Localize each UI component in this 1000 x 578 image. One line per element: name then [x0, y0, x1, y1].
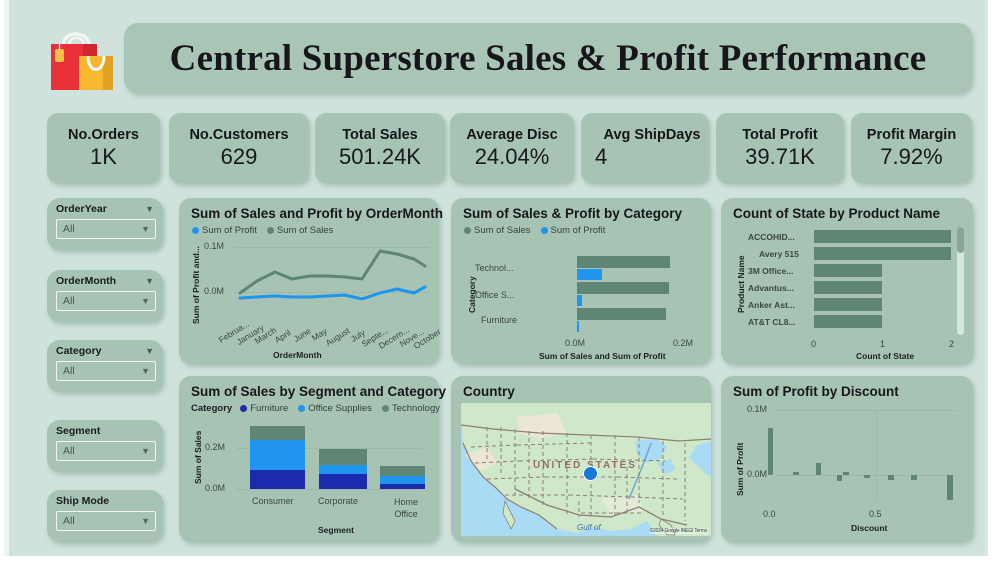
x-tick-label: 0: [811, 339, 816, 349]
legend-label: Sum of Profit: [551, 225, 606, 236]
bar-corporate-office-supplies[interactable]: [319, 465, 367, 474]
chart-sales-profit-by-category[interactable]: Sum of Sales & Profit by Category Sum of…: [451, 198, 711, 364]
bar-consumer-technology[interactable]: [250, 426, 305, 440]
slicer-header: Segment ▼: [56, 425, 156, 437]
bar-discount-2[interactable]: [816, 463, 821, 475]
y-axis-title: Sum of Sales: [193, 431, 203, 484]
kpi-value: 24.04%: [475, 145, 550, 168]
legend-label: Furniture: [250, 403, 288, 414]
bar-profit-technology[interactable]: [577, 269, 602, 280]
legend-item-sum-of-sales[interactable]: Sum of Sales: [464, 225, 531, 236]
legend-item-office-supplies[interactable]: Office Supplies: [298, 403, 372, 414]
bar-consumer-furniture[interactable]: [250, 470, 305, 489]
category-label: Office S...: [475, 290, 514, 300]
category-label: Avery 515: [759, 249, 799, 259]
chevron-down-icon[interactable]: ▼: [145, 205, 154, 214]
map-pin-icon[interactable]: [583, 466, 598, 481]
gridline-vertical: [876, 410, 877, 502]
bar-home-office-office-supplies[interactable]: [380, 476, 425, 484]
bar-product-1[interactable]: [814, 247, 951, 260]
slicer-dropdown[interactable]: All ▼: [56, 441, 156, 461]
legend-label: Technology: [392, 403, 440, 414]
legend-label: Office Supplies: [308, 403, 372, 414]
bar-discount-1[interactable]: [793, 472, 799, 475]
slicer-label: OrderMonth: [56, 275, 116, 287]
map-attribution[interactable]: ©2024 Google INEGI Terms: [649, 528, 708, 534]
bar-sales-technology[interactable]: [577, 256, 670, 268]
chart-scrollbar-thumb[interactable]: [957, 227, 964, 253]
legend-swatch-icon: [464, 227, 471, 234]
bar-product-3[interactable]: [814, 281, 882, 294]
bar-product-4[interactable]: [814, 298, 882, 311]
slicer-dropdown[interactable]: All ▼: [56, 219, 156, 239]
category-label: Furniture: [481, 315, 517, 325]
kpi-card-average-disc[interactable]: Average Disc 24.04%: [450, 113, 574, 183]
chart-legend[interactable]: Sum of Sales Sum of Profit: [464, 225, 611, 236]
slicer-header: Ship Mode ▼: [56, 495, 156, 507]
bar-product-0[interactable]: [814, 230, 951, 243]
slicer-value: All: [63, 515, 75, 527]
chart-title: Sum of Profit by Discount: [733, 384, 899, 399]
bar-corporate-technology[interactable]: [319, 449, 367, 465]
bar-discount-3[interactable]: [837, 475, 842, 481]
slicer-value: All: [63, 365, 75, 377]
chevron-down-icon[interactable]: ▼: [141, 516, 150, 526]
bar-discount-8[interactable]: [947, 475, 953, 500]
x-tick-label: 1: [880, 339, 885, 349]
kpi-value: 4: [595, 145, 607, 168]
x-tick-label: 2: [949, 339, 954, 349]
x-tick-label: Corporate: [318, 496, 358, 506]
bar-discount-6[interactable]: [888, 475, 894, 480]
kpi-card-avg-shipdays[interactable]: Avg ShipDays 4: [581, 113, 709, 183]
y-tick-label: 0.0M: [205, 483, 225, 493]
legend-item-furniture[interactable]: Furniture: [240, 403, 288, 414]
x-axis-title: Discount: [851, 523, 887, 533]
slicer-dropdown[interactable]: All ▼: [56, 291, 156, 311]
chart-sales-by-segment-and-category[interactable]: Sum of Sales by Segment and Category Cat…: [179, 376, 439, 542]
slicer-label: OrderYear: [56, 203, 107, 215]
category-label: 3M Office...: [748, 266, 793, 276]
legend-swatch-icon: [240, 405, 247, 412]
legend-label: Sum of Profit: [202, 225, 257, 236]
x-axis-title: OrderMonth: [273, 350, 322, 360]
bar-sales-office-supplies[interactable]: [577, 282, 669, 294]
slicer-value: All: [63, 223, 75, 235]
chart-title: Sum of Sales and Profit by OrderMonth: [191, 206, 443, 221]
bar-home-office-furniture[interactable]: [380, 484, 425, 489]
kpi-value: 501.24K: [339, 145, 421, 168]
bar-home-office-technology[interactable]: [380, 466, 425, 476]
bar-profit-office-supplies[interactable]: [577, 295, 582, 306]
slicer-value: All: [63, 445, 75, 457]
category-label: Technol...: [475, 263, 514, 273]
map-title: Country: [463, 384, 515, 399]
bar-consumer-office-supplies[interactable]: [250, 440, 305, 470]
bar-discount-0[interactable]: [768, 428, 773, 475]
slicer-category[interactable]: Category ▼ All ▼: [47, 340, 163, 392]
legend-swatch-icon: [382, 405, 389, 412]
y-axis-title: Sum of Profit: [735, 443, 745, 496]
chart-profit-by-discount[interactable]: Sum of Profit by Discount Sum of Profit …: [721, 376, 973, 542]
x-tick-label: 0.2M: [673, 338, 693, 348]
legend-swatch-icon: [298, 405, 305, 412]
legend-item-sum-of-profit[interactable]: Sum of Profit: [192, 225, 257, 236]
x-tick-label: HomeOffice: [384, 496, 428, 520]
x-tick-label: Consumer: [252, 496, 294, 506]
kpi-value: 629: [221, 145, 258, 168]
slicer-label: Category: [56, 345, 102, 357]
slicer-label: Segment: [56, 425, 100, 437]
legend-swatch-icon: [192, 227, 199, 234]
slicer-header: OrderMonth ▼: [56, 275, 156, 287]
kpi-label: Total Sales: [342, 128, 417, 143]
x-tick-label: 0.5: [869, 509, 882, 519]
legend-item-technology[interactable]: Technology: [382, 403, 440, 414]
chart-legend[interactable]: Category Furniture Office Supplies Techn…: [191, 403, 446, 414]
chart-sales-profit-by-ordermonth[interactable]: Sum of Sales and Profit by OrderMonth Su…: [179, 198, 439, 364]
x-axis-title: Segment: [318, 525, 354, 535]
kpi-label: Avg ShipDays: [604, 128, 701, 143]
gridline: [237, 489, 422, 490]
kpi-label: Profit Margin: [867, 128, 956, 143]
kpi-label: No.Orders: [68, 128, 139, 143]
kpi-card-no-orders[interactable]: No.Orders 1K: [47, 113, 160, 183]
chevron-down-icon[interactable]: ▼: [145, 277, 154, 286]
bar-sales-furniture[interactable]: [577, 308, 666, 320]
chart-legend[interactable]: Sum of Profit Sum of Sales: [192, 225, 339, 236]
kpi-card-total-profit[interactable]: Total Profit 39.71K: [716, 113, 844, 183]
bar-corporate-furniture[interactable]: [319, 474, 367, 489]
report-page: Central Superstore Sales & Profit Perfor…: [4, 0, 988, 556]
legend-title: Category: [191, 403, 232, 414]
slicer-ship-mode[interactable]: Ship Mode ▼ All ▼: [47, 490, 163, 542]
x-tick-label: 0.0: [763, 509, 776, 519]
legend-swatch-icon: [267, 227, 274, 234]
x-tick-label: August: [324, 325, 352, 348]
y-tick-label: 0.2M: [205, 442, 225, 452]
slicer-value: All: [63, 295, 75, 307]
x-tick-label: 0.0M: [565, 338, 585, 348]
y-axis-title: Product Name: [736, 255, 746, 313]
kpi-value: 7.92%: [880, 145, 942, 168]
y-tick-label: 0.0M: [747, 469, 767, 479]
bar-discount-5[interactable]: [864, 475, 870, 478]
slicer-ordermonth[interactable]: OrderMonth ▼ All ▼: [47, 270, 163, 322]
slicer-dropdown[interactable]: All ▼: [56, 361, 156, 381]
line-chart-plot: [234, 238, 429, 300]
dashboard-canvas: Central Superstore Sales & Profit Perfor…: [0, 0, 1000, 578]
bar-product-5[interactable]: [814, 315, 882, 328]
shopping-bags-icon: [39, 18, 125, 98]
y-axis-title: Sum of Profit and...: [191, 246, 201, 324]
slicer-segment[interactable]: Segment ▼ All ▼: [47, 420, 163, 472]
chevron-down-icon[interactable]: ▼: [141, 446, 150, 456]
chevron-down-icon[interactable]: ▼: [141, 224, 150, 234]
kpi-card-total-sales[interactable]: Total Sales 501.24K: [315, 113, 445, 183]
kpi-label: Total Profit: [742, 128, 817, 143]
bar-profit-furniture[interactable]: [577, 321, 579, 332]
slicer-dropdown[interactable]: All ▼: [56, 511, 156, 531]
kpi-label: Average Disc: [466, 128, 557, 143]
y-tick-label: 0.0M: [204, 286, 224, 296]
category-label: AT&T CL8...: [748, 317, 796, 327]
map-viewport[interactable]: UNITED STATES Gulf of ©2024 Google INEGI…: [461, 403, 711, 536]
dashboard-title-card: Central Superstore Sales & Profit Perfor…: [124, 23, 972, 93]
map-country[interactable]: Country: [451, 376, 711, 542]
legend-item-sum-of-profit[interactable]: Sum of Profit: [541, 225, 606, 236]
slicer-header: Category ▼: [56, 345, 156, 357]
legend-item-sum-of-sales[interactable]: Sum of Sales: [267, 225, 334, 236]
category-label: Advantus...: [748, 283, 794, 293]
x-axis-title: Sum of Sales and Sum of Profit: [539, 351, 666, 361]
slicer-label: Ship Mode: [56, 495, 109, 507]
chart-title: Sum of Sales & Profit by Category: [463, 206, 682, 221]
slicer-orderyear[interactable]: OrderYear ▼ All ▼: [47, 198, 163, 250]
gridline: [778, 410, 956, 411]
bar-product-2[interactable]: [814, 264, 882, 277]
slicer-header: OrderYear ▼: [56, 203, 156, 215]
chevron-down-icon[interactable]: ▼: [141, 296, 150, 306]
category-label: ACCOHID...: [748, 232, 795, 242]
kpi-card-no-customers[interactable]: No.Customers 629: [169, 113, 309, 183]
x-axis-title: Count of State: [856, 351, 914, 361]
page-title: Central Superstore Sales & Profit Perfor…: [170, 37, 927, 80]
legend-label: Sum of Sales: [474, 225, 531, 236]
category-label: Anker Ast...: [748, 300, 795, 310]
kpi-card-profit-margin[interactable]: Profit Margin 7.92%: [851, 113, 972, 183]
chevron-down-icon[interactable]: ▼: [141, 366, 150, 376]
bar-discount-4[interactable]: [843, 472, 849, 475]
bar-discount-7[interactable]: [911, 475, 917, 480]
y-tick-label: 0.1M: [204, 241, 224, 251]
chart-count-state-by-product-name[interactable]: Count of State by Product Name Product N…: [721, 198, 973, 364]
legend-swatch-icon: [541, 227, 548, 234]
legend-label: Sum of Sales: [277, 225, 334, 236]
chart-title: Count of State by Product Name: [733, 206, 940, 221]
chevron-down-icon[interactable]: ▼: [145, 347, 154, 356]
map-gulf-label: Gulf of: [577, 523, 601, 532]
kpi-value: 39.71K: [745, 145, 815, 168]
y-tick-label: 0.1M: [747, 404, 767, 414]
kpi-value: 1K: [90, 145, 117, 168]
kpi-label: No.Customers: [189, 128, 288, 143]
chart-title: Sum of Sales by Segment and Category: [191, 384, 446, 399]
